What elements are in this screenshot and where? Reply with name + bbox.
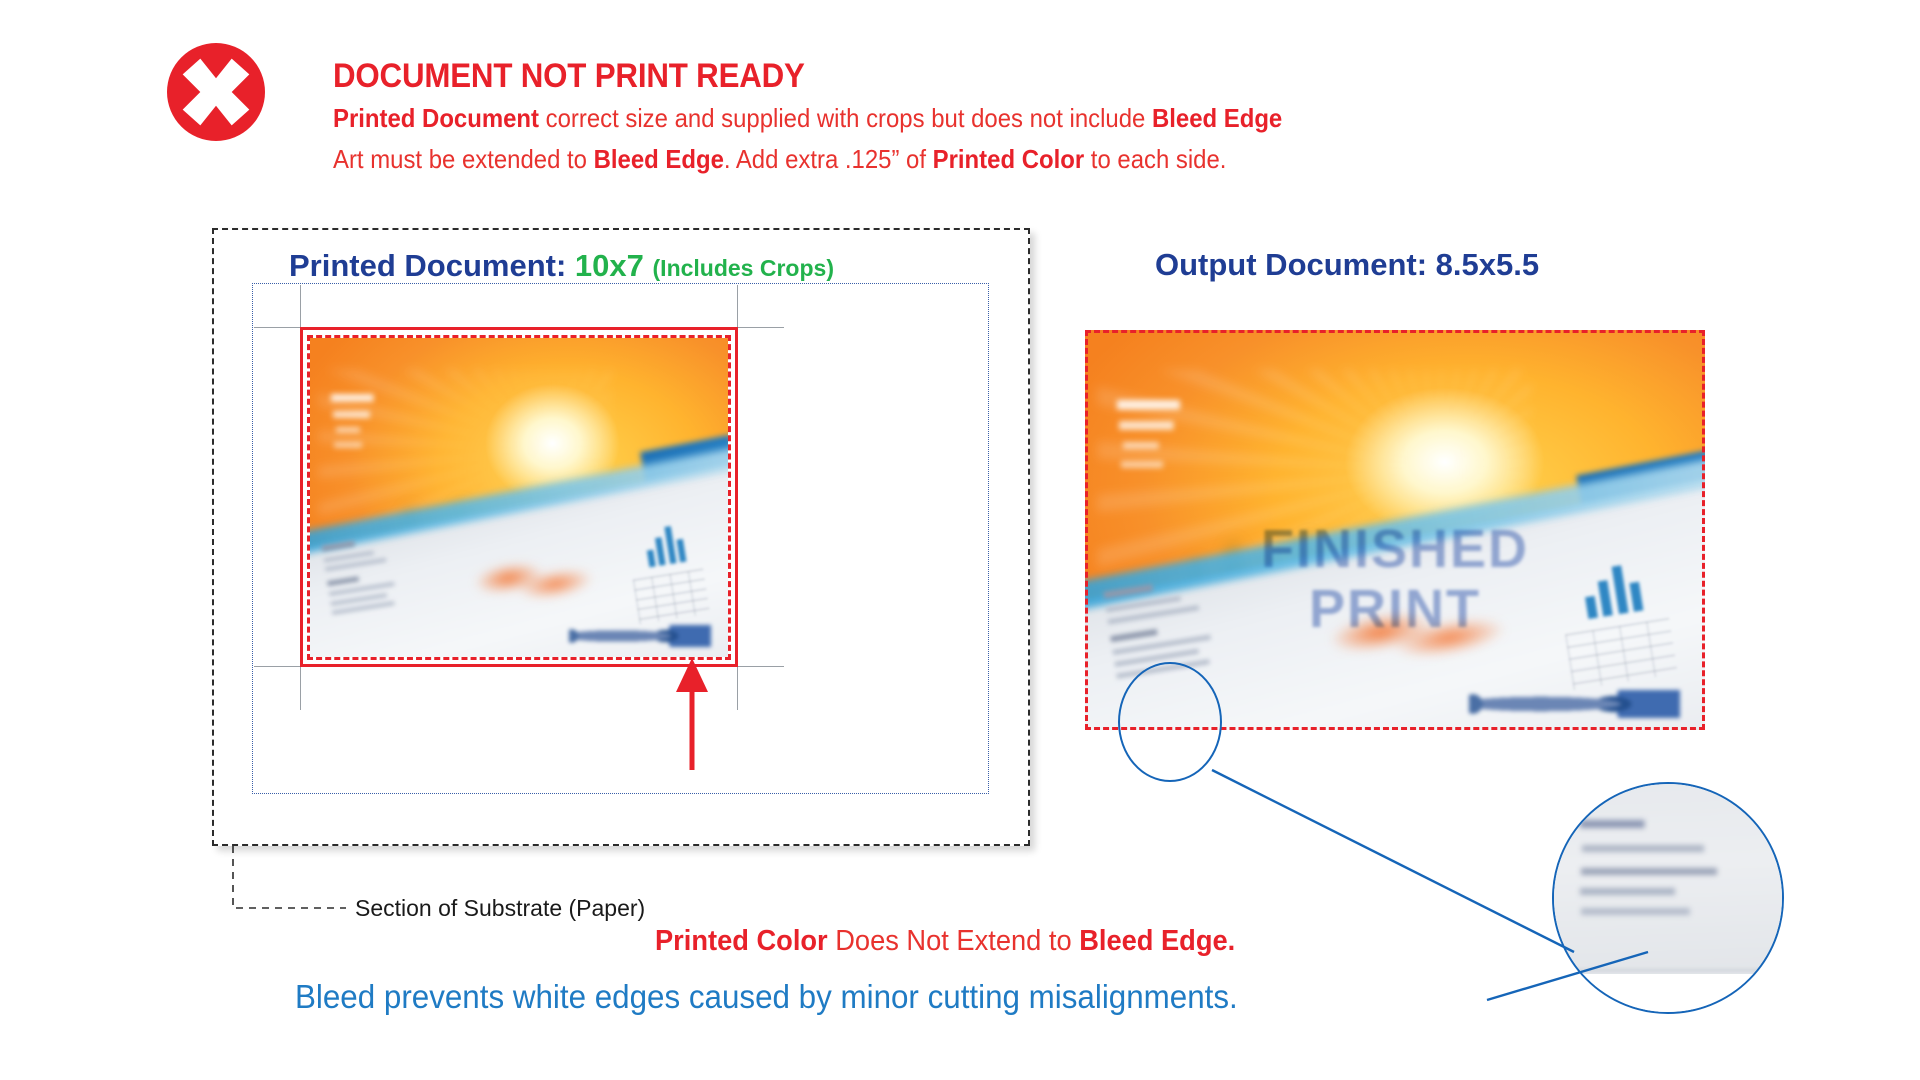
crop-mark-br-h — [738, 666, 784, 667]
header-line-3-bold-b: Printed Color — [933, 144, 1084, 174]
printed-color-warning-bold-b: Bleed Edge. — [1079, 925, 1235, 957]
crop-mark-br-v — [737, 666, 738, 710]
header-line-3-e: to each side. — [1084, 144, 1226, 174]
bleed-explanation-caption: Bleed prevents white edges caused by min… — [295, 978, 1238, 1016]
crop-mark-tr-h — [738, 327, 784, 328]
substrate-leader-line — [233, 846, 346, 908]
output-document-label: Output Document: 8.5x5.5 — [1155, 247, 1539, 283]
illustration-canvas: DOCUMENT NOT PRINT READY Printed Documen… — [0, 0, 1920, 1080]
crop-mark-tl-h — [254, 327, 300, 328]
crop-mark-tr-v — [737, 285, 738, 329]
magnifier-detail-view — [1552, 782, 1784, 1014]
header-line-3-bold-a: Bleed Edge — [594, 144, 724, 174]
magnifier-leader-line — [1212, 770, 1574, 952]
header-line-3: Art must be extended to Bleed Edge. Add … — [333, 144, 1226, 175]
crop-mark-bl-v — [300, 666, 301, 710]
header-line-2-bold-b: Bleed Edge — [1152, 103, 1282, 133]
header-line-2-bold-a: Printed Document — [333, 103, 539, 133]
printed-color-warning-bold-a: Printed Color — [655, 925, 828, 957]
printed-document-crops-note: (Includes Crops) — [653, 255, 834, 281]
bleed-edge-box-left — [307, 335, 731, 660]
magnifier-text-lines — [1580, 818, 1750, 938]
header-line-2-mid: correct size and supplied with crops but… — [539, 103, 1152, 133]
header-line-2: Printed Document correct size and suppli… — [333, 103, 1282, 134]
magnifier-white-edge — [1554, 974, 1782, 990]
page-title: DOCUMENT NOT PRINT READY — [333, 57, 805, 96]
error-x-circle-icon — [167, 43, 265, 141]
zoom-source-circle — [1118, 662, 1222, 782]
printed-document-label-prefix: Printed Document: — [289, 248, 566, 283]
header-line-3-a: Art must be extended to — [333, 144, 594, 174]
printed-document-size: 10x7 — [575, 248, 644, 283]
printed-color-warning-mid: Does Not Extend to — [828, 925, 1080, 957]
printed-color-warning-caption: Printed Color Does Not Extend to Bleed E… — [655, 925, 1235, 958]
crop-mark-tl-v — [300, 285, 301, 329]
header-line-3-c: . Add extra .125” of — [724, 144, 933, 174]
substrate-caption: Section of Substrate (Paper) — [355, 895, 645, 922]
printed-document-label: Printed Document: 10x7 (Includes Crops) — [289, 248, 834, 284]
crop-mark-bl-h — [254, 666, 300, 667]
